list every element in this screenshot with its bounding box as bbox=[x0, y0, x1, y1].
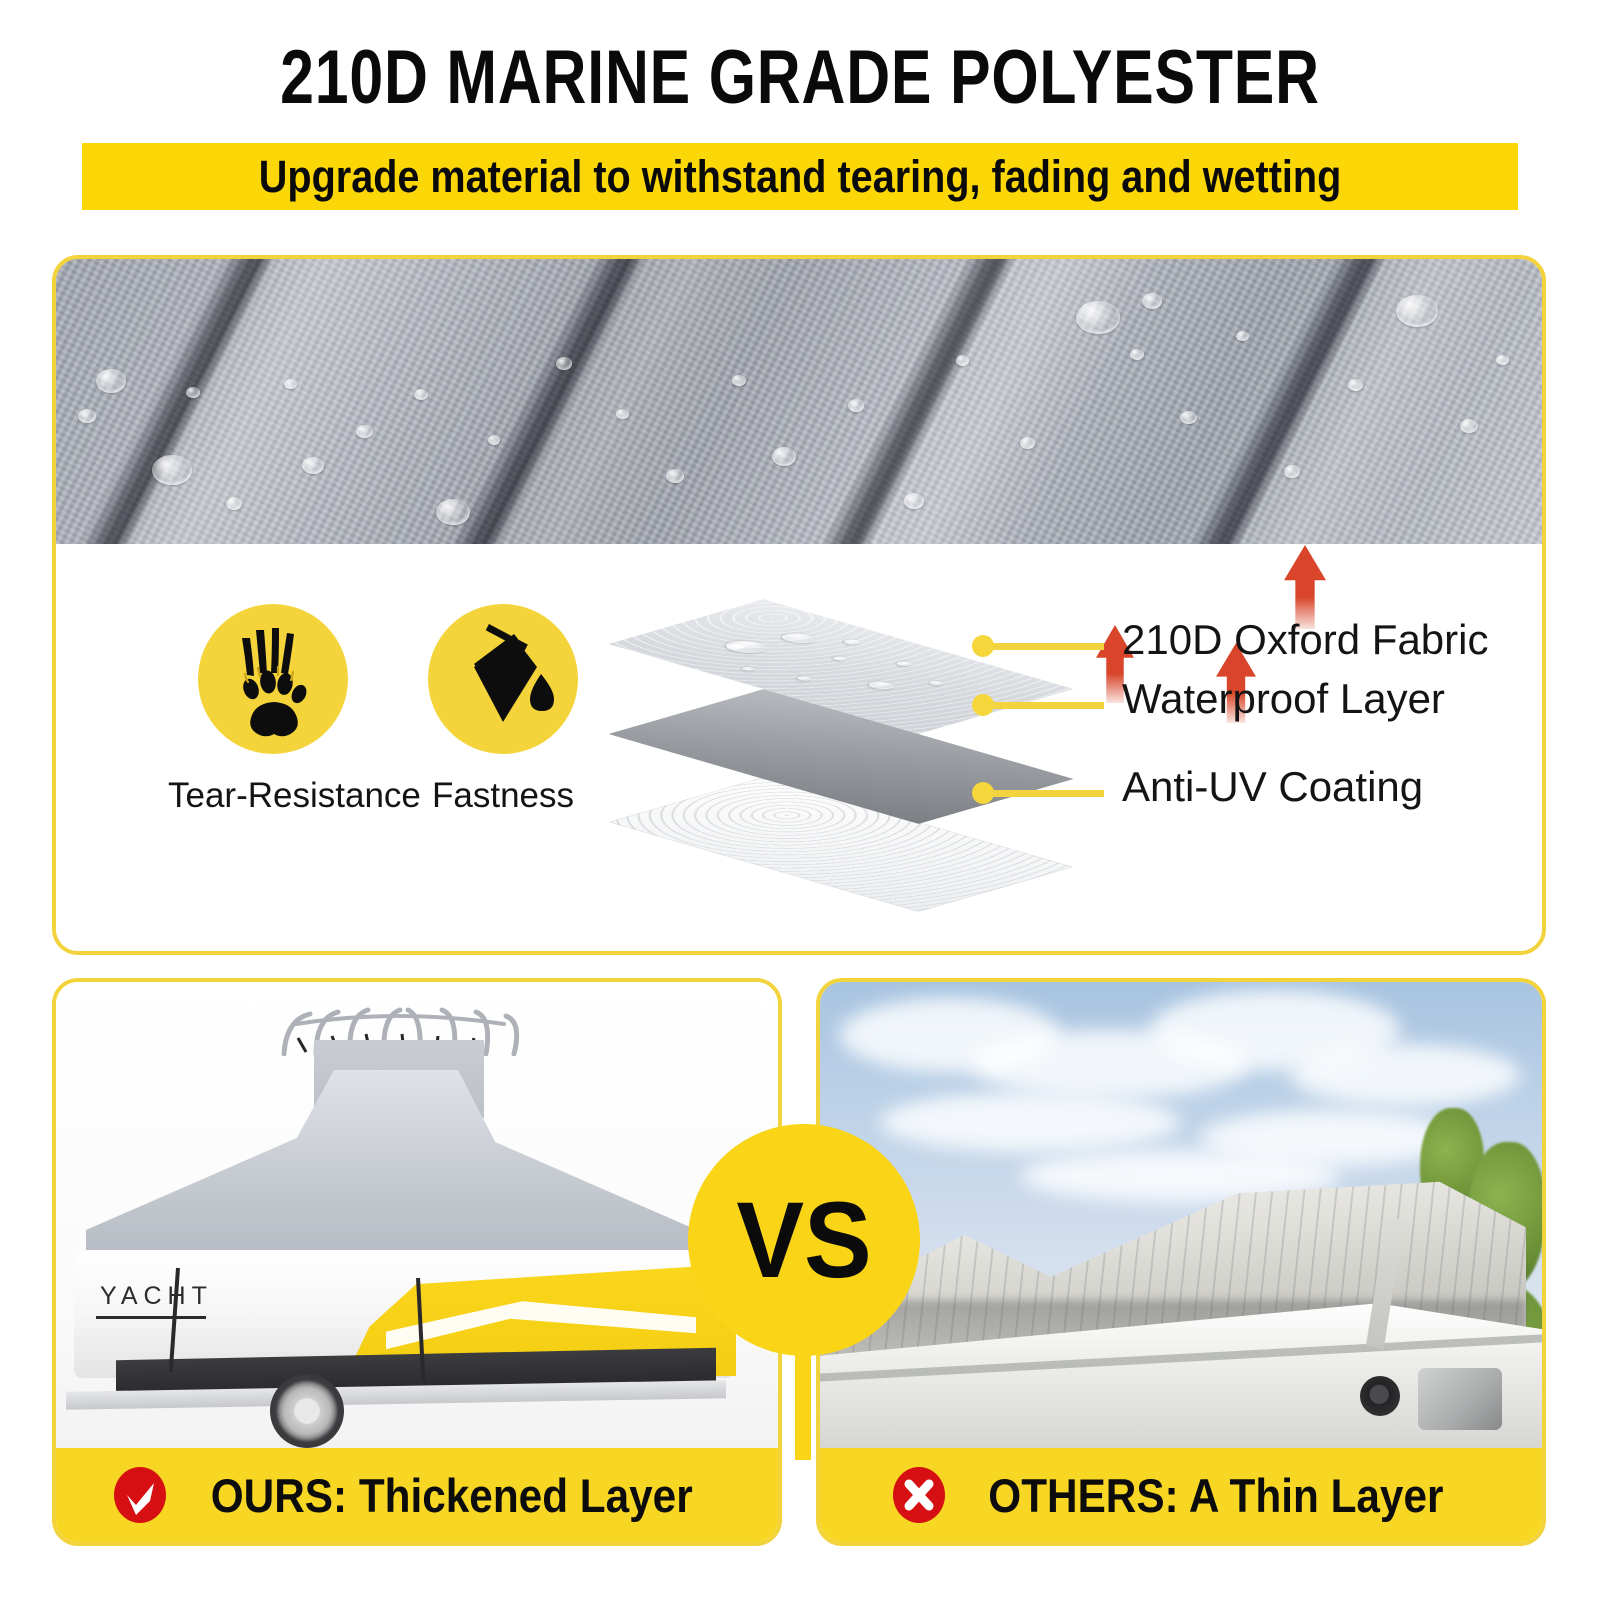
fabric-photo bbox=[56, 259, 1542, 544]
feature-label: Tear-Resistance bbox=[168, 776, 378, 816]
callout-line bbox=[992, 643, 1104, 650]
feature-tear-resistance: Tear-Resistance bbox=[168, 604, 378, 816]
boat-cover-ours bbox=[86, 1070, 706, 1270]
hull-brand-text: YACHT bbox=[100, 1282, 213, 1311]
claw-scratch-icon bbox=[198, 604, 348, 754]
caption-ours: OURS: Thickened Layer bbox=[56, 1448, 778, 1542]
feature-area: Tear-Resistance Fastness bbox=[56, 544, 1542, 955]
callout-label-oxford: 210D Oxford Fabric bbox=[1122, 616, 1488, 664]
vs-badge: VS bbox=[688, 1124, 920, 1356]
page-title: 210D MARINE GRADE POLYESTER bbox=[160, 40, 1440, 116]
cross-icon bbox=[893, 1467, 945, 1523]
hull-brand-rule bbox=[96, 1316, 206, 1319]
callout-line bbox=[992, 790, 1104, 797]
check-icon bbox=[114, 1467, 166, 1523]
photo-ours: YACHT bbox=[56, 982, 778, 1452]
callout-label-waterproof: Waterproof Layer bbox=[1122, 675, 1445, 723]
caption-text: OURS: Thickened Layer bbox=[211, 1468, 693, 1523]
trailer-pulley bbox=[1360, 1376, 1400, 1416]
caption-text: OTHERS: A Thin Layer bbox=[988, 1468, 1443, 1523]
callout-dot bbox=[972, 782, 994, 804]
trailer-winch bbox=[1418, 1368, 1502, 1430]
material-card: Tear-Resistance Fastness bbox=[52, 255, 1546, 955]
subtitle-text: Upgrade material to withstand tearing, f… bbox=[259, 151, 1341, 203]
feature-label: Fastness bbox=[398, 776, 608, 816]
paint-bucket-drop-icon bbox=[428, 604, 578, 754]
callout-dot bbox=[972, 694, 994, 716]
comparison-card-ours: YACHT OURS: Thickened Layer bbox=[52, 978, 782, 1546]
trailer-wheel bbox=[270, 1374, 344, 1448]
feature-fastness: Fastness bbox=[398, 604, 608, 816]
infographic-page: 210D MARINE GRADE POLYESTER Upgrade mate… bbox=[0, 0, 1600, 1600]
feature-icon-badge bbox=[198, 604, 348, 754]
feature-icon-badge bbox=[428, 604, 578, 754]
caption-others: OTHERS: A Thin Layer bbox=[820, 1448, 1542, 1542]
vs-label: VS bbox=[736, 1186, 871, 1294]
subtitle-banner: Upgrade material to withstand tearing, f… bbox=[82, 143, 1518, 210]
callout-line bbox=[992, 702, 1104, 709]
photo-others bbox=[820, 982, 1542, 1452]
callout-label-antiuv: Anti-UV Coating bbox=[1122, 763, 1423, 811]
callout-dot bbox=[972, 635, 994, 657]
comparison-card-others: OTHERS: A Thin Layer bbox=[816, 978, 1546, 1546]
